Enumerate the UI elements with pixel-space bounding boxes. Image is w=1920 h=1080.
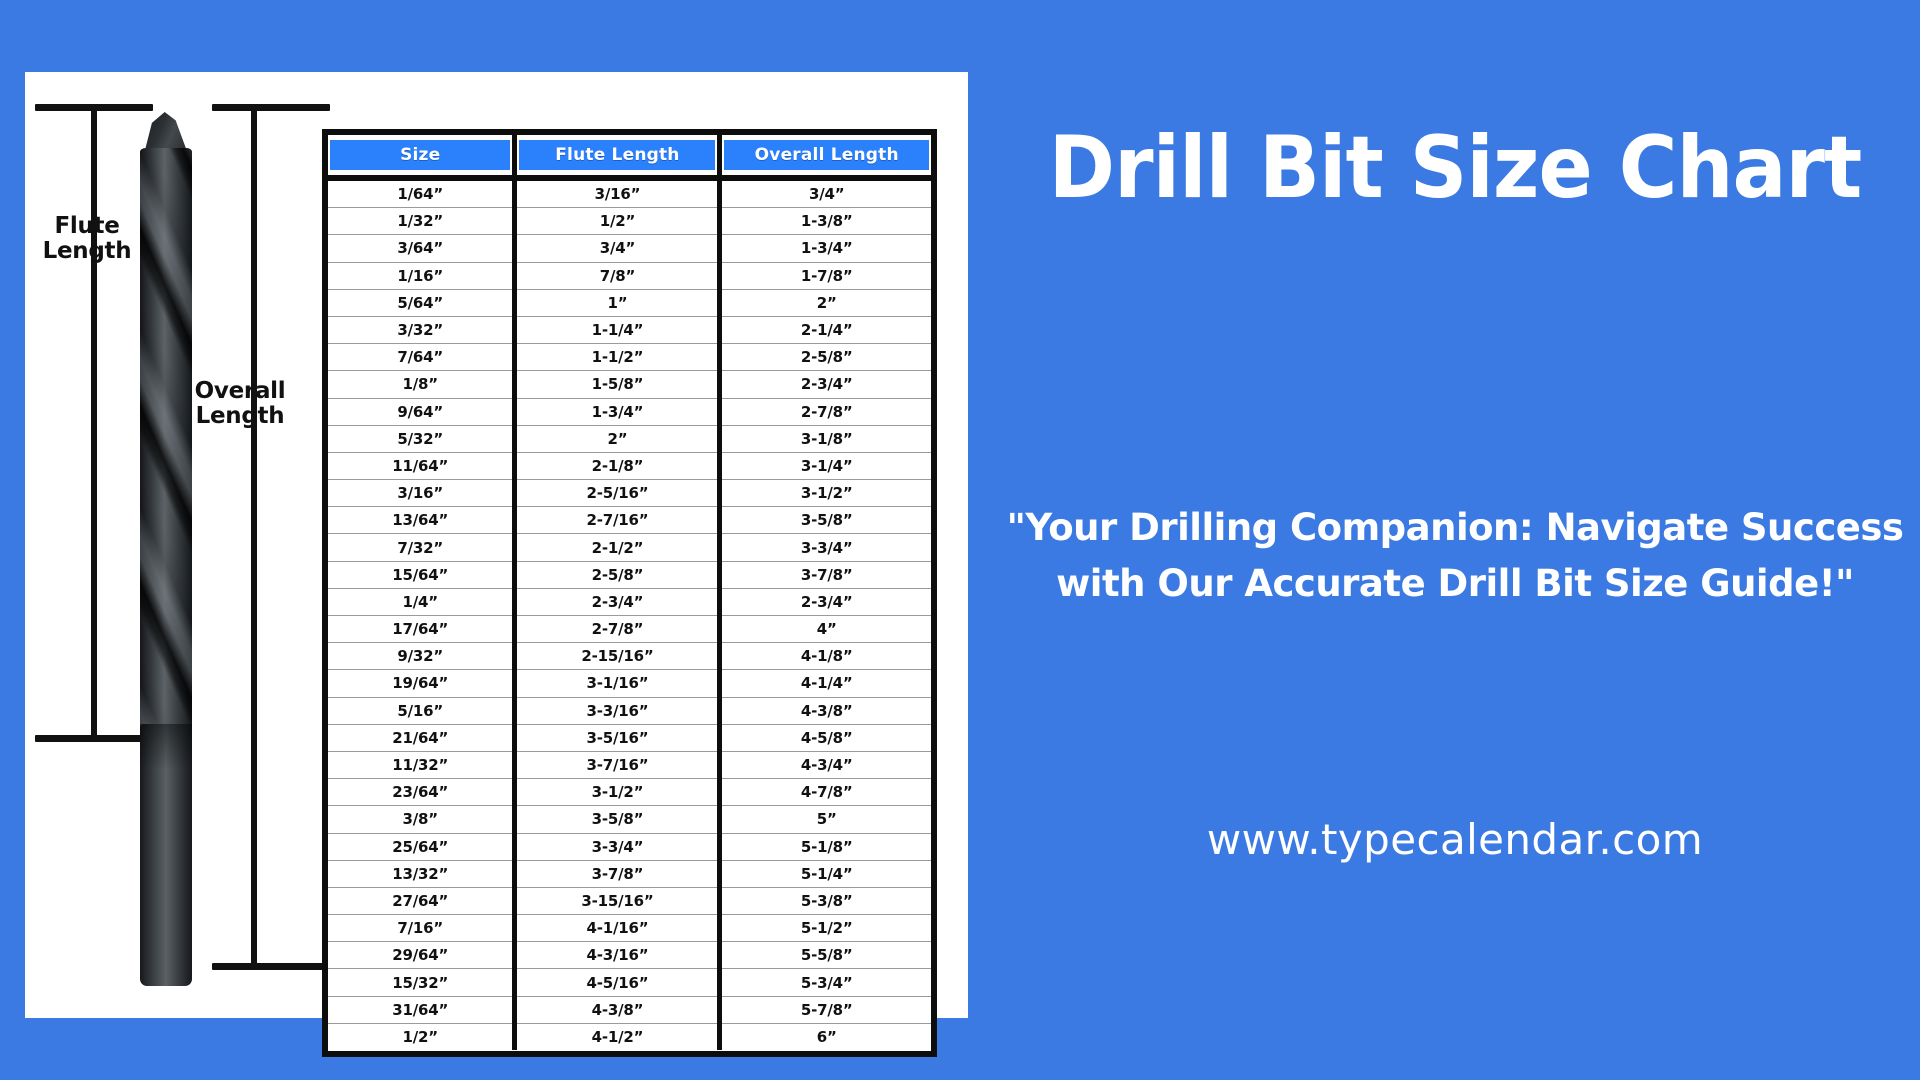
page-title: Drill Bit Size Chart xyxy=(1023,120,1888,216)
tagline-line-1: "Your Drilling Companion: Navigate Succe… xyxy=(1000,500,1910,556)
right-panel: Drill Bit Size Chart "Your Drilling Comp… xyxy=(990,0,1920,1080)
flute-length-cell: 3-1/16” xyxy=(515,670,720,697)
column-header-flute-length: Flute Length xyxy=(515,135,720,178)
flute-length-cell: 2-7/16” xyxy=(515,507,720,534)
size-cell: 5/16” xyxy=(328,697,515,724)
column-header-overall-length: Overall Length xyxy=(720,135,931,178)
table-row: 23/64”3-1/2”4-7/8” xyxy=(328,779,931,806)
size-cell: 11/64” xyxy=(328,452,515,479)
overall-length-cell: 4-1/8” xyxy=(720,643,931,670)
flute-length-cell: 3-5/16” xyxy=(515,724,720,751)
overall-length-cell: 3-1/8” xyxy=(720,425,931,452)
table-row: 1/2”4-1/2”6” xyxy=(328,1023,931,1050)
flute-length-cell: 4-5/16” xyxy=(515,969,720,996)
overall-length-cell: 3-5/8” xyxy=(720,507,931,534)
drill-bit-helix xyxy=(140,148,192,732)
overall-length-cell: 4-5/8” xyxy=(720,724,931,751)
table-row: 1/4”2-3/4”2-3/4” xyxy=(328,588,931,615)
overall-length-cell: 4-7/8” xyxy=(720,779,931,806)
overall-length-cell: 3-7/8” xyxy=(720,561,931,588)
flute-length-label-line2: Length xyxy=(43,238,132,264)
size-cell: 7/64” xyxy=(328,344,515,371)
overall-length-cell: 5-1/2” xyxy=(720,915,931,942)
size-cell: 13/64” xyxy=(328,507,515,534)
size-cell: 27/64” xyxy=(328,887,515,914)
flute-length-cell: 3-5/8” xyxy=(515,806,720,833)
overall-length-cell: 2-3/4” xyxy=(720,588,931,615)
size-cell: 7/16” xyxy=(328,915,515,942)
flute-length-cell: 3-7/8” xyxy=(515,860,720,887)
flute-length-cell: 2-7/8” xyxy=(515,616,720,643)
size-cell: 15/64” xyxy=(328,561,515,588)
overall-length-cell: 3-3/4” xyxy=(720,534,931,561)
flute-length-cell: 1-1/4” xyxy=(515,316,720,343)
table-row: 5/64”1”2” xyxy=(328,289,931,316)
flute-length-cell: 2-5/16” xyxy=(515,480,720,507)
table-row: 25/64”3-3/4”5-1/8” xyxy=(328,833,931,860)
table-row: 21/64”3-5/16”4-5/8” xyxy=(328,724,931,751)
flute-length-cell: 2-1/8” xyxy=(515,452,720,479)
size-cell: 15/32” xyxy=(328,969,515,996)
flute-length-label-line1: Flute xyxy=(54,213,119,239)
size-cell: 1/8” xyxy=(328,371,515,398)
flute-length-cell: 3-3/16” xyxy=(515,697,720,724)
size-cell: 3/8” xyxy=(328,806,515,833)
flute-length-cell: 4-3/16” xyxy=(515,942,720,969)
size-cell: 17/64” xyxy=(328,616,515,643)
size-cell: 19/64” xyxy=(328,670,515,697)
overall-length-cell: 3-1/4” xyxy=(720,452,931,479)
flute-length-cell: 3-1/2” xyxy=(515,779,720,806)
size-cell: 1/32” xyxy=(328,208,515,235)
flute-length-cell: 7/8” xyxy=(515,262,720,289)
flute-length-cell: 3/4” xyxy=(515,235,720,262)
size-cell: 5/32” xyxy=(328,425,515,452)
table-row: 1/16”7/8”1-7/8” xyxy=(328,262,931,289)
overall-length-cell: 5” xyxy=(720,806,931,833)
table-row: 3/16”2-5/16”3-1/2” xyxy=(328,480,931,507)
overall-length-cell: 2-7/8” xyxy=(720,398,931,425)
table-row: 5/32”2”3-1/8” xyxy=(328,425,931,452)
table-row: 11/32”3-7/16”4-3/4” xyxy=(328,751,931,778)
drill-bit-size-table: Size Flute Length Overall Length 1/64”3/… xyxy=(322,129,937,1057)
overall-dimension-bottom-bar xyxy=(212,963,330,970)
size-cell: 3/16” xyxy=(328,480,515,507)
overall-length-cell: 2-3/4” xyxy=(720,371,931,398)
overall-length-cell: 5-3/4” xyxy=(720,969,931,996)
overall-length-cell: 2-5/8” xyxy=(720,344,931,371)
table-row: 7/32”2-1/2”3-3/4” xyxy=(328,534,931,561)
size-cell: 31/64” xyxy=(328,996,515,1023)
overall-dimension-line xyxy=(251,104,257,970)
overall-length-label-line2: Length xyxy=(196,403,285,429)
table-row: 13/32”3-7/8”5-1/4” xyxy=(328,860,931,887)
overall-dimension-top-bar xyxy=(212,104,330,111)
overall-length-cell: 3-1/2” xyxy=(720,480,931,507)
table-row: 3/8”3-5/8”5” xyxy=(328,806,931,833)
overall-length-cell: 3/4” xyxy=(720,178,931,208)
flute-length-cell: 1” xyxy=(515,289,720,316)
size-cell: 21/64” xyxy=(328,724,515,751)
tagline-line-2: with Our Accurate Drill Bit Size Guide!" xyxy=(1000,556,1910,612)
flute-length-cell: 4-3/8” xyxy=(515,996,720,1023)
flute-length-label: Flute Length xyxy=(27,214,147,264)
drill-bit-image xyxy=(130,112,202,992)
size-cell: 29/64” xyxy=(328,942,515,969)
flute-length-cell: 3/16” xyxy=(515,178,720,208)
flute-length-cell: 1/2” xyxy=(515,208,720,235)
tagline: "Your Drilling Companion: Navigate Succe… xyxy=(1000,500,1910,612)
overall-length-cell: 4” xyxy=(720,616,931,643)
flute-length-cell: 2-3/4” xyxy=(515,588,720,615)
flute-dimension-line xyxy=(91,104,97,742)
table-row: 9/32”2-15/16”4-1/8” xyxy=(328,643,931,670)
size-cell: 3/32” xyxy=(328,316,515,343)
table-row: 1/8”1-5/8”2-3/4” xyxy=(328,371,931,398)
overall-length-cell: 2” xyxy=(720,289,931,316)
size-cell: 11/32” xyxy=(328,751,515,778)
overall-length-cell: 1-3/4” xyxy=(720,235,931,262)
table-row: 9/64”1-3/4”2-7/8” xyxy=(328,398,931,425)
overall-length-cell: 5-1/8” xyxy=(720,833,931,860)
flute-length-cell: 1-3/4” xyxy=(515,398,720,425)
overall-length-cell: 4-3/8” xyxy=(720,697,931,724)
size-cell: 1/2” xyxy=(328,1023,515,1050)
flute-length-cell: 1-1/2” xyxy=(515,344,720,371)
table-row: 29/64”4-3/16”5-5/8” xyxy=(328,942,931,969)
table-row: 1/32”1/2”1-3/8” xyxy=(328,208,931,235)
flute-length-cell: 3-15/16” xyxy=(515,887,720,914)
table-row: 27/64”3-15/16”5-3/8” xyxy=(328,887,931,914)
overall-length-cell: 1-7/8” xyxy=(720,262,931,289)
overall-length-cell: 5-3/8” xyxy=(720,887,931,914)
flute-length-cell: 4-1/16” xyxy=(515,915,720,942)
table-row: 1/64”3/16”3/4” xyxy=(328,178,931,208)
table-row: 13/64”2-7/16”3-5/8” xyxy=(328,507,931,534)
table-row: 15/32”4-5/16”5-3/4” xyxy=(328,969,931,996)
table-row: 31/64”4-3/8”5-7/8” xyxy=(328,996,931,1023)
flute-length-cell: 1-5/8” xyxy=(515,371,720,398)
table-row: 19/64”3-1/16”4-1/4” xyxy=(328,670,931,697)
size-cell: 9/64” xyxy=(328,398,515,425)
table-row: 11/64”2-1/8”3-1/4” xyxy=(328,452,931,479)
size-cell: 1/16” xyxy=(328,262,515,289)
drill-bit-flute xyxy=(140,148,192,732)
drill-bit-diagram: Flute Length Overall Length xyxy=(25,72,345,1018)
overall-length-cell: 5-7/8” xyxy=(720,996,931,1023)
flute-length-cell: 2-1/2” xyxy=(515,534,720,561)
overall-length-cell: 5-1/4” xyxy=(720,860,931,887)
overall-length-cell: 6” xyxy=(720,1023,931,1050)
overall-length-cell: 4-1/4” xyxy=(720,670,931,697)
column-header-size: Size xyxy=(328,135,515,178)
drill-bit-shank xyxy=(140,724,192,986)
size-cell: 25/64” xyxy=(328,833,515,860)
table-row: 7/64”1-1/2”2-5/8” xyxy=(328,344,931,371)
table-row: 15/64”2-5/8”3-7/8” xyxy=(328,561,931,588)
flute-length-cell: 3-3/4” xyxy=(515,833,720,860)
table-row: 5/16”3-3/16”4-3/8” xyxy=(328,697,931,724)
table-row: 3/32”1-1/4”2-1/4” xyxy=(328,316,931,343)
size-cell: 1/4” xyxy=(328,588,515,615)
overall-length-cell: 4-3/4” xyxy=(720,751,931,778)
table-row: 3/64”3/4”1-3/4” xyxy=(328,235,931,262)
flute-length-cell: 2-15/16” xyxy=(515,643,720,670)
size-cell: 13/32” xyxy=(328,860,515,887)
table-row: 17/64”2-7/8”4” xyxy=(328,616,931,643)
table-header-row: Size Flute Length Overall Length xyxy=(328,135,931,178)
size-cell: 23/64” xyxy=(328,779,515,806)
size-cell: 3/64” xyxy=(328,235,515,262)
website-url: www.typecalendar.com xyxy=(990,815,1920,864)
size-cell: 9/32” xyxy=(328,643,515,670)
size-cell: 1/64” xyxy=(328,178,515,208)
table-body: 1/64”3/16”3/4”1/32”1/2”1-3/8”3/64”3/4”1-… xyxy=(328,178,931,1050)
flute-length-cell: 2” xyxy=(515,425,720,452)
content-card: Flute Length Overall Length Siz xyxy=(25,72,968,1018)
table-row: 7/16”4-1/16”5-1/2” xyxy=(328,915,931,942)
size-cell: 5/64” xyxy=(328,289,515,316)
flute-length-cell: 4-1/2” xyxy=(515,1023,720,1050)
size-cell: 7/32” xyxy=(328,534,515,561)
flute-length-cell: 3-7/16” xyxy=(515,751,720,778)
overall-length-cell: 5-5/8” xyxy=(720,942,931,969)
overall-length-cell: 1-3/8” xyxy=(720,208,931,235)
overall-length-label-line1: Overall xyxy=(195,378,286,404)
overall-length-cell: 2-1/4” xyxy=(720,316,931,343)
flute-length-cell: 2-5/8” xyxy=(515,561,720,588)
